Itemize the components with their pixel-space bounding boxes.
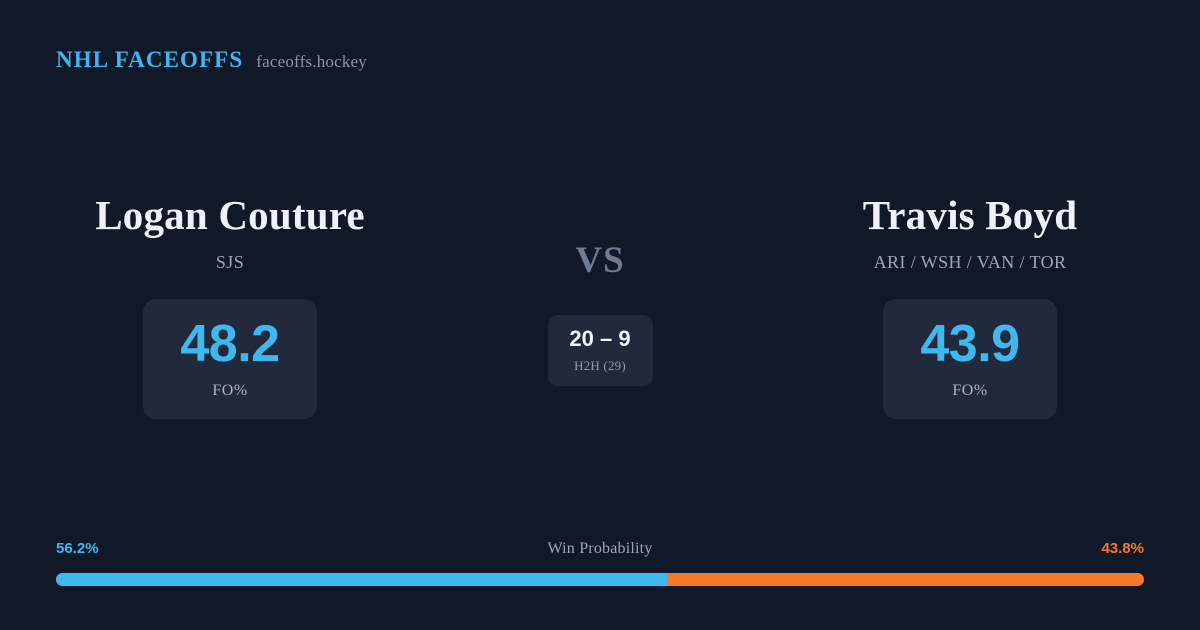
player-right: Travis Boyd ARI / WSH / VAN / TOR 43.9 F… (740, 195, 1200, 419)
win-probability-bar (56, 573, 1144, 586)
player-left-name: Logan Couture (95, 195, 365, 236)
win-probability-right-pct: 43.8% (1101, 540, 1144, 557)
player-left-stat-label: FO% (212, 382, 247, 400)
win-probability-section: 56.2% Win Probability 43.8% (56, 540, 1144, 586)
head-to-head-label: H2H (29) (574, 358, 626, 374)
win-probability-left-pct: 56.2% (56, 540, 99, 557)
player-right-name: Travis Boyd (863, 195, 1077, 236)
head-to-head-record: 20 – 9 (569, 328, 630, 350)
win-probability-title: Win Probability (547, 540, 652, 558)
site-header: NHL FACEOFFS faceoffs.hockey (56, 47, 367, 73)
win-probability-labels: 56.2% Win Probability 43.8% (56, 540, 1144, 562)
brand-title: NHL FACEOFFS (56, 47, 243, 73)
player-left: Logan Couture SJS 48.2 FO% (0, 195, 460, 419)
head-to-head-box: 20 – 9 H2H (29) (548, 315, 653, 386)
matchup-row: Logan Couture SJS 48.2 FO% VS 20 – 9 H2H… (0, 195, 1200, 435)
player-left-stat-card: 48.2 FO% (143, 299, 317, 419)
player-right-teams: ARI / WSH / VAN / TOR (874, 252, 1067, 273)
player-right-stat-label: FO% (952, 382, 987, 400)
versus-column: VS 20 – 9 H2H (29) (460, 195, 740, 386)
share-card: NHL FACEOFFS faceoffs.hockey Logan Coutu… (0, 0, 1200, 630)
player-right-faceoff-pct: 43.9 (920, 318, 1019, 370)
player-right-stat-card: 43.9 FO% (883, 299, 1057, 419)
win-probability-left-fill (56, 573, 667, 586)
player-left-teams: SJS (216, 252, 244, 273)
player-left-faceoff-pct: 48.2 (180, 318, 279, 370)
versus-label: VS (575, 239, 624, 282)
site-domain: faceoffs.hockey (256, 52, 367, 72)
